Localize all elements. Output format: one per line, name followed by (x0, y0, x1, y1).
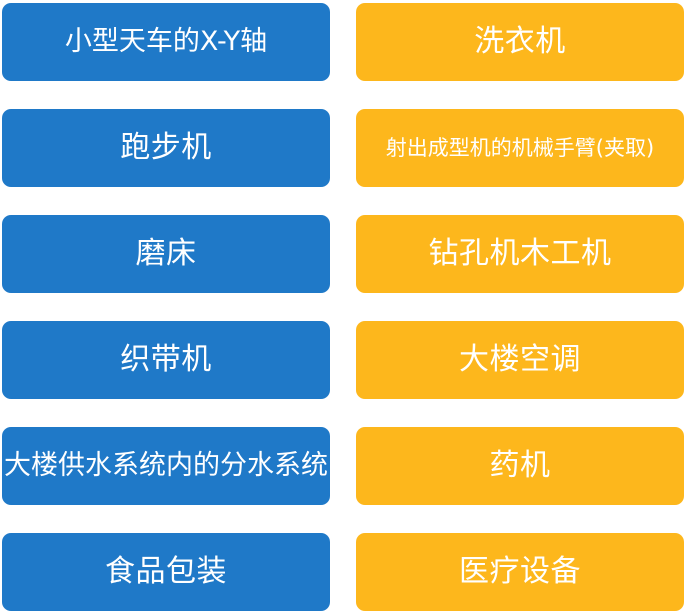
button-right-5-label: 药机 (490, 450, 551, 482)
button-left-1-label: 小型天车的X-Y轴 (65, 28, 267, 56)
button-right-4[interactable]: 大楼空调 (356, 321, 684, 399)
button-right-6-label: 医疗设备 (459, 556, 581, 588)
button-left-3[interactable]: 磨床 (2, 215, 330, 293)
button-right-2-label: 射出成型机的机械手臂(夹取) (386, 137, 654, 159)
button-right-1-label: 洗衣机 (474, 26, 566, 58)
button-left-5[interactable]: 大楼供水系统内的分水系统 (2, 427, 330, 505)
button-left-3-label: 磨床 (136, 238, 197, 270)
button-right-5[interactable]: 药机 (356, 427, 684, 505)
button-left-5-label: 大楼供水系统内的分水系统 (4, 452, 328, 480)
button-left-2-label: 跑步机 (120, 132, 212, 164)
button-right-4-label: 大楼空调 (459, 344, 581, 376)
button-left-4[interactable]: 织带机 (2, 321, 330, 399)
button-left-1[interactable]: 小型天车的X-Y轴 (2, 3, 330, 81)
button-left-2[interactable]: 跑步机 (2, 109, 330, 187)
application-field-button-grid: 小型天车的X-Y轴 洗衣机 跑步机 射出成型机的机械手臂(夹取) 磨床 钻孔机木… (0, 0, 686, 612)
button-left-6[interactable]: 食品包装 (2, 533, 330, 611)
button-right-3[interactable]: 钻孔机木工机 (356, 215, 684, 293)
button-left-6-label: 食品包装 (105, 556, 227, 588)
button-right-6[interactable]: 医疗设备 (356, 533, 684, 611)
button-left-4-label: 织带机 (120, 344, 212, 376)
button-right-2[interactable]: 射出成型机的机械手臂(夹取) (356, 109, 684, 187)
button-right-3-label: 钻孔机木工机 (429, 238, 612, 270)
button-right-1[interactable]: 洗衣机 (356, 3, 684, 81)
